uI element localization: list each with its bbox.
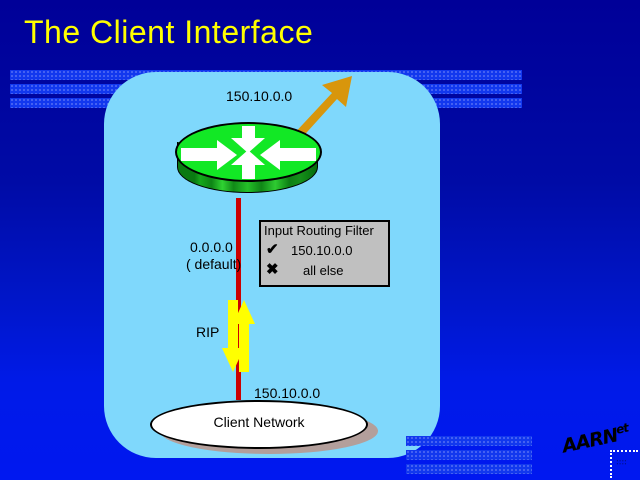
filter-row-deny-label: all else xyxy=(303,263,343,278)
default-route-prefix-label: 0.0.0.0 xyxy=(190,239,233,255)
router-arrow-bottom xyxy=(242,164,255,179)
router-icon xyxy=(175,122,322,208)
client-prefix-label: 150.10.0.0 xyxy=(254,385,320,401)
default-route-note-label: ( default) xyxy=(186,256,241,272)
upstream-prefix-label: 150.10.0.0 xyxy=(226,88,292,104)
client-network-label: Client Network xyxy=(152,414,366,430)
rip-up-arrow-shaft xyxy=(239,322,249,372)
router-arrow-bottom-head xyxy=(231,150,265,165)
decor-stripe-bottom-2 xyxy=(406,450,532,460)
router-arrow-right xyxy=(276,148,316,161)
corner-glyph-icon: ∷∷ xyxy=(616,458,627,468)
check-icon: ✔ xyxy=(266,240,279,258)
cross-icon: ✖ xyxy=(266,260,279,278)
input-routing-filter-box: Input Routing Filter ✔ 150.10.0.0 ✖ all … xyxy=(259,220,390,287)
filter-box-title: Input Routing Filter xyxy=(264,223,374,238)
rip-up-arrow-icon xyxy=(233,300,255,372)
decor-stripe-bottom-1 xyxy=(406,436,532,446)
page-title: The Client Interface xyxy=(24,14,313,51)
rip-protocol-label: RIP xyxy=(196,324,219,340)
slide-canvas: The Client Interface 150.10.0.0 0.0.0.0 … xyxy=(0,0,640,480)
filter-row-accept-label: 150.10.0.0 xyxy=(291,243,352,258)
client-network-node: Client Network xyxy=(150,400,368,449)
rip-up-arrow-head xyxy=(233,300,255,324)
aarnet-logo-sup: et xyxy=(615,421,630,437)
router-arrow-left xyxy=(181,148,221,161)
router-body-top xyxy=(175,122,322,182)
decor-stripe-bottom-3 xyxy=(406,464,532,474)
